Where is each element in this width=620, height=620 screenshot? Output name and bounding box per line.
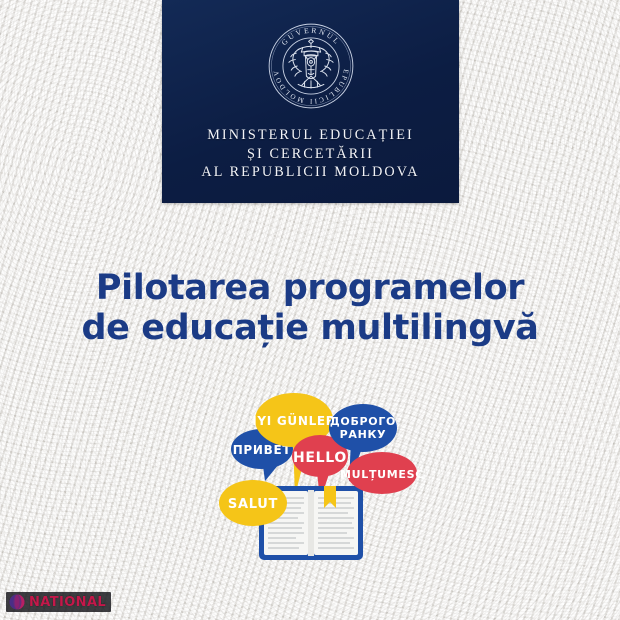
national-watermark-label: NATIONAL xyxy=(29,595,106,610)
speech-bubble-dobroho-ranku: ДОБРОГО РАНКУ xyxy=(329,404,397,452)
moldova-government-seal-icon: GUVERNUL REPUBLICII MOLDOVA xyxy=(265,20,357,112)
illustration-canvas: SALUT ПРИВЕТ IYI GÜNLER HELLO ДОБРОГО РА… xyxy=(196,384,424,576)
ministry-line-2: ȘI CERCETĂRII xyxy=(201,145,419,164)
poster-canvas: GUVERNUL REPUBLICII MOLDOVA xyxy=(0,0,620,620)
bubble-text-dobroho: ДОБРОГО xyxy=(330,415,396,428)
bubble-text-salut: SALUT xyxy=(228,497,278,512)
page-title-line-1: Pilotarea programelor xyxy=(0,268,620,308)
speech-bubble-salut: SALUT xyxy=(219,480,287,526)
page-title-line-2: de educație multilingvă xyxy=(0,308,620,348)
ministry-header-block: GUVERNUL REPUBLICII MOLDOVA xyxy=(162,0,459,203)
ministry-line-3: AL REPUBLICII MOLDOVA xyxy=(201,163,419,182)
national-swirl-logo-icon xyxy=(9,594,25,610)
bubble-text-iyi-gunler: IYI GÜNLER xyxy=(252,413,336,428)
bubble-text-multumesc: MULȚUMESC xyxy=(340,468,424,481)
national-watermark[interactable]: NATIONAL xyxy=(6,592,111,612)
government-seal-emblem: GUVERNUL REPUBLICII MOLDOVA xyxy=(265,20,357,117)
bubble-text-ranku: РАНКУ xyxy=(340,428,387,441)
ministry-line-1: MINISTERUL EDUCAȚIEI xyxy=(201,126,419,145)
multilingual-greetings-illustration: SALUT ПРИВЕТ IYI GÜNLER HELLO ДОБРОГО РА… xyxy=(196,384,424,576)
bubble-text-hello: HELLO xyxy=(293,450,347,466)
ministry-name: MINISTERUL EDUCAȚIEI ȘI CERCETĂRII AL RE… xyxy=(201,126,419,182)
page-title: Pilotarea programelor de educație multil… xyxy=(0,268,620,348)
